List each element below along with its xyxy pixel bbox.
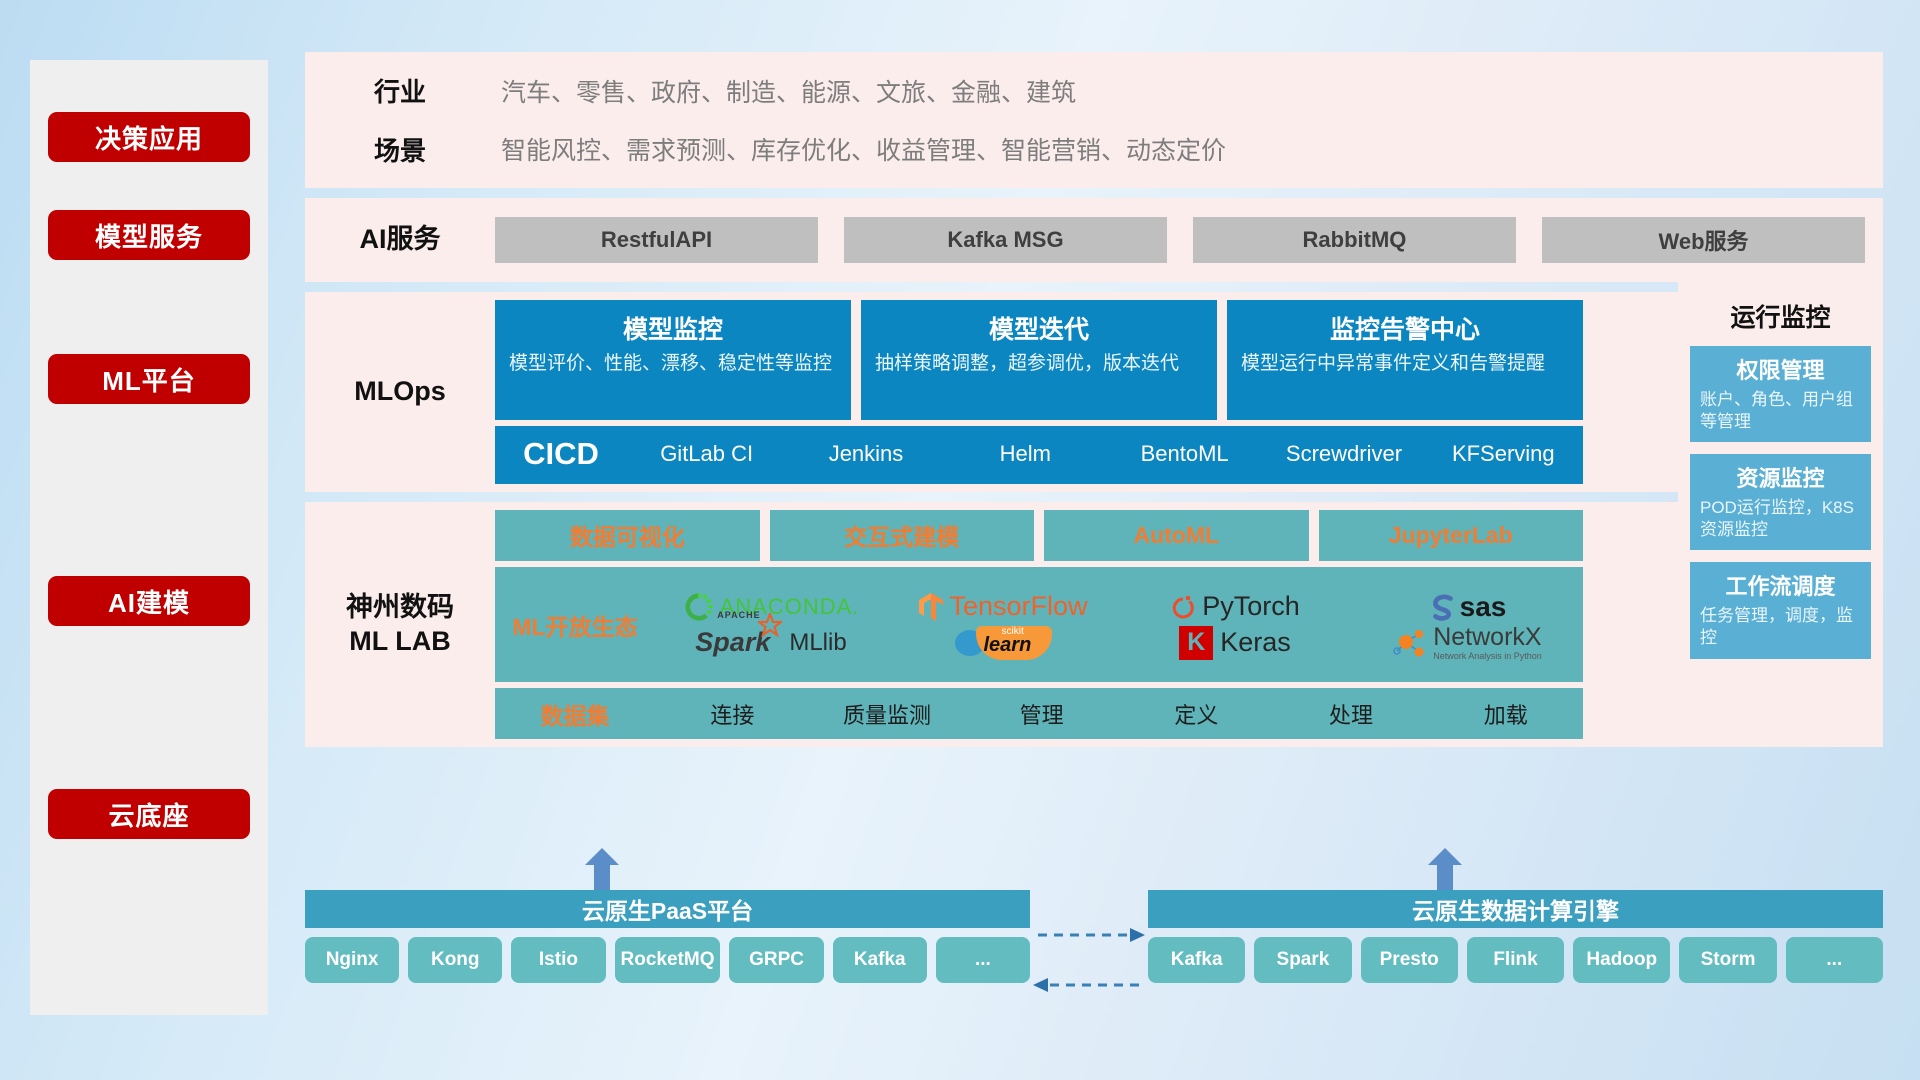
cicd-item-jenkins[interactable]: Jenkins: [786, 426, 945, 468]
sidebar-item-label: 云底座: [108, 796, 189, 833]
spark-apache-text: APACHE: [717, 610, 760, 620]
anaconda-icon: [683, 592, 713, 622]
tool-box-automl[interactable]: AutoML: [1044, 510, 1309, 561]
cicd-item-gitlab-ci[interactable]: GitLab CI: [627, 426, 786, 468]
monitor-title: 运行监控: [1690, 298, 1871, 334]
decision-apps-band: 行业 场景 汽车、零售、政府、制造、能源、文旅、金融、建筑 智能风控、需求预测、…: [305, 52, 1883, 188]
service-box-restfulapi[interactable]: RestfulAPI: [495, 217, 818, 263]
cicd-item-helm[interactable]: Helm: [946, 426, 1105, 468]
runtime-monitoring-column: 运行监控 权限管理 账户、角色、用户组等管理 资源监控 POD运行监控，K8S资…: [1678, 282, 1883, 740]
sidebar-item-label: 模型服务: [95, 217, 203, 254]
industry-value: 汽车、零售、政府、制造、能源、文旅、金融、建筑: [501, 73, 1883, 109]
service-box-kafka-msg[interactable]: Kafka MSG: [844, 217, 1167, 263]
up-arrow-icon: [1428, 848, 1462, 890]
tool-box-jupyterlab[interactable]: JupyterLab: [1319, 510, 1584, 561]
card-desc: 模型评价、性能、漂移、稳定性等监控: [509, 352, 837, 377]
chip-istio[interactable]: Istio: [511, 937, 605, 983]
apps-label-column: 行业 场景: [305, 52, 495, 188]
mlops-card-alert-center[interactable]: 监控告警中心 模型运行中异常事件定义和告警提醒: [1227, 300, 1583, 420]
ai-service-boxes: RestfulAPI Kafka MSG RabbitMQ Web服务: [495, 217, 1883, 263]
ml-ecosystem-label: ML开放生态: [495, 608, 655, 642]
card-desc: 模型运行中异常事件定义和告警提醒: [1241, 352, 1569, 377]
dataset-item-define[interactable]: 定义: [1119, 698, 1274, 730]
ai-service-band: AI服务 RestfulAPI Kafka MSG RabbitMQ Web服务: [305, 198, 1883, 282]
paas-chip-row: Nginx Kong Istio RocketMQ GRPC Kafka ...: [305, 937, 1030, 983]
card-title: 监控告警中心: [1241, 310, 1569, 346]
mlops-cards: 模型监控 模型评价、性能、漂移、稳定性等监控 模型迭代 抽样策略调整，超参调优，…: [495, 300, 1583, 420]
chip-flink[interactable]: Flink: [1467, 937, 1564, 983]
ai-modeling-band: 神州数码 ML LAB 数据可视化 交互式建模 AutoML JupyterLa…: [305, 502, 1883, 747]
keras-wordmark: Keras: [1220, 627, 1291, 658]
card-title: 工作流调度: [1700, 569, 1861, 601]
spark-star-icon: [758, 613, 782, 637]
sidebar-item-cloud-base[interactable]: 云底座: [48, 789, 250, 839]
networkx-subtitle: Network Analysis in Python: [1433, 652, 1542, 661]
paas-title: 云原生PaaS平台: [305, 890, 1030, 928]
ml-ecosystem-logos: ANACONDA. TensorFlow: [655, 589, 1583, 661]
dataset-item-load[interactable]: 加载: [1428, 698, 1583, 730]
monitor-card-resources[interactable]: 资源监控 POD运行监控，K8S资源监控: [1690, 454, 1871, 550]
learn-text: learn: [984, 634, 1032, 657]
card-title: 模型监控: [509, 310, 837, 346]
tensorflow-icon: [918, 592, 944, 622]
service-box-web[interactable]: Web服务: [1542, 217, 1865, 263]
mlops-band: MLOps 模型监控 模型评价、性能、漂移、稳定性等监控 模型迭代 抽样策略调整…: [305, 292, 1883, 492]
card-desc: 任务管理，调度，监控: [1700, 605, 1861, 649]
mlops-card-model-iteration[interactable]: 模型迭代 抽样策略调整，超参调优，版本迭代: [861, 300, 1217, 420]
dashed-arrows-icon: [1030, 890, 1148, 1040]
chip-more[interactable]: ...: [936, 937, 1030, 983]
chip-grpc[interactable]: GRPC: [729, 937, 823, 983]
dataset-item-manage[interactable]: 管理: [964, 698, 1119, 730]
card-desc: 抽样策略调整，超参调优，版本迭代: [875, 352, 1203, 377]
chip-rocketmq[interactable]: RocketMQ: [615, 937, 721, 983]
architecture-main: 行业 场景 汽车、零售、政府、制造、能源、文旅、金融、建筑 智能风控、需求预测、…: [305, 52, 1883, 747]
sas-wordmark: sas: [1460, 591, 1507, 623]
tensorflow-wordmark: TensorFlow: [949, 591, 1087, 622]
pytorch-wordmark: PyTorch: [1202, 591, 1300, 622]
cicd-title: CICD: [495, 426, 627, 472]
cloud-native-data-engine: 云原生数据计算引擎 Kafka Spark Presto Flink Hadoo…: [1148, 890, 1883, 1040]
dataset-item-quality[interactable]: 质量监测: [810, 698, 965, 730]
monitor-card-workflow[interactable]: 工作流调度 任务管理，调度，监控: [1690, 562, 1871, 658]
pytorch-icon: [1170, 592, 1196, 622]
ml-ecosystem-row: ML开放生态 ANACONDA.: [495, 567, 1583, 682]
mlops-label: MLOps: [305, 292, 495, 492]
networkx-wordmark: NetworkX: [1433, 625, 1542, 650]
ml-lab-label-line2: ML LAB: [349, 625, 451, 659]
modeling-tools: 数据可视化 交互式建模 AutoML JupyterLab: [495, 510, 1583, 561]
tool-box-data-visualization[interactable]: 数据可视化: [495, 510, 760, 561]
cicd-item-kfserving[interactable]: KFServing: [1424, 426, 1583, 468]
sidebar-item-label: AI建模: [108, 583, 190, 620]
chip-more[interactable]: ...: [1786, 937, 1883, 983]
sas-logo: sas: [1428, 591, 1507, 623]
cicd-item-screwdriver[interactable]: Screwdriver: [1264, 426, 1423, 468]
spark-mllib-logo: APACHE Spark MLlib: [695, 627, 846, 658]
sidebar-item-ai-modeling[interactable]: AI建模: [48, 576, 250, 626]
chip-nginx[interactable]: Nginx: [305, 937, 399, 983]
cicd-row: CICD GitLab CI Jenkins Helm BentoML Scre…: [495, 426, 1583, 484]
tensorflow-logo: TensorFlow: [918, 591, 1087, 622]
networkx-icon: [1392, 627, 1428, 659]
scikit-learn-logo: scikit learn: [955, 626, 1052, 660]
tool-box-interactive-modeling[interactable]: 交互式建模: [770, 510, 1035, 561]
service-box-rabbitmq[interactable]: RabbitMQ: [1193, 217, 1516, 263]
up-arrow-icon: [585, 848, 619, 890]
sas-icon: [1428, 592, 1458, 622]
bidirectional-arrows: [1030, 890, 1148, 1040]
ml-lab-label-line1: 神州数码: [346, 591, 454, 625]
mllib-wordmark: MLlib: [789, 629, 846, 657]
cicd-item-bentoml[interactable]: BentoML: [1105, 426, 1264, 468]
apps-value-column: 汽车、零售、政府、制造、能源、文旅、金融、建筑 智能风控、需求预测、库存优化、收…: [495, 52, 1883, 188]
engine-chip-row: Kafka Spark Presto Flink Hadoop Storm ..…: [1148, 937, 1883, 983]
mlops-body: 模型监控 模型评价、性能、漂移、稳定性等监控 模型迭代 抽样策略调整，超参调优，…: [495, 292, 1595, 492]
sidebar-item-model-service[interactable]: 模型服务: [48, 210, 250, 260]
sidebar-item-ml-platform[interactable]: ML平台: [48, 354, 250, 404]
ai-service-label: AI服务: [305, 223, 495, 257]
dataset-item-connect[interactable]: 连接: [655, 698, 810, 730]
chip-spark[interactable]: Spark: [1254, 937, 1351, 983]
card-desc: POD运行监控，K8S资源监控: [1700, 497, 1861, 541]
chip-presto[interactable]: Presto: [1361, 937, 1458, 983]
monitor-card-permissions[interactable]: 权限管理 账户、角色、用户组等管理: [1690, 346, 1871, 442]
card-title: 资源监控: [1700, 461, 1861, 493]
ml-lab-label: 神州数码 ML LAB: [305, 502, 495, 747]
cloud-foundation-section: 云原生PaaS平台 Nginx Kong Istio RocketMQ GRPC…: [305, 890, 1883, 1040]
industry-label: 行业: [374, 72, 426, 109]
chip-hadoop[interactable]: Hadoop: [1573, 937, 1670, 983]
card-title: 权限管理: [1700, 353, 1861, 385]
scenario-value: 智能风控、需求预测、库存优化、收益管理、智能营销、动态定价: [501, 131, 1883, 167]
keras-logo: K Keras: [1179, 626, 1291, 660]
layer-sidebar: 决策应用 模型服务 ML平台 AI建模 云底座: [30, 60, 268, 1015]
card-desc: 账户、角色、用户组等管理: [1700, 389, 1861, 433]
dataset-row: 数据集 连接 质量监测 管理 定义 处理 加载: [495, 688, 1583, 739]
pytorch-logo: PyTorch: [1170, 591, 1300, 622]
mlops-card-model-monitoring[interactable]: 模型监控 模型评价、性能、漂移、稳定性等监控: [495, 300, 851, 420]
chip-kong[interactable]: Kong: [408, 937, 502, 983]
chip-kafka[interactable]: Kafka: [833, 937, 927, 983]
dataset-label: 数据集: [495, 697, 655, 731]
sidebar-item-label: 决策应用: [95, 119, 203, 156]
engine-title: 云原生数据计算引擎: [1148, 890, 1883, 928]
modeling-body: 数据可视化 交互式建模 AutoML JupyterLab ML开放生态 ANA…: [495, 502, 1595, 747]
scenario-label: 场景: [374, 131, 426, 168]
keras-icon: K: [1179, 626, 1213, 660]
sidebar-item-label: ML平台: [102, 361, 196, 398]
card-title: 模型迭代: [875, 310, 1203, 346]
chip-storm[interactable]: Storm: [1679, 937, 1776, 983]
dataset-item-process[interactable]: 处理: [1274, 698, 1429, 730]
networkx-logo: NetworkX Network Analysis in Python: [1392, 625, 1542, 661]
sidebar-item-decision-apps[interactable]: 决策应用: [48, 112, 250, 162]
chip-kafka[interactable]: Kafka: [1148, 937, 1245, 983]
cloud-native-paas: 云原生PaaS平台 Nginx Kong Istio RocketMQ GRPC…: [305, 890, 1030, 1040]
